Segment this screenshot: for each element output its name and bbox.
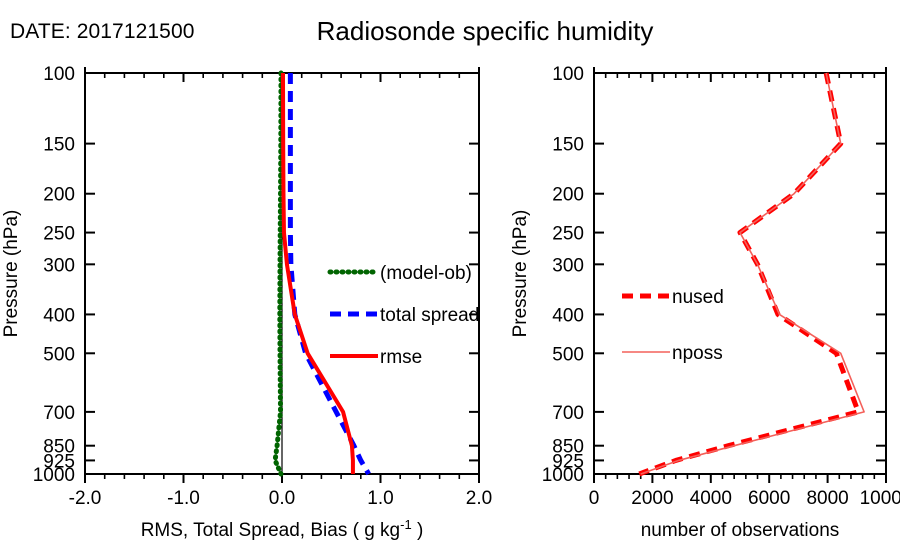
panel-right-panel: 0200040006000800010000100150200250300400… [510, 64, 900, 541]
x-axis-title-superscript: -1 [400, 517, 412, 532]
x-tick-label: 1.0 [367, 488, 393, 509]
x-tick-label: 0.0 [269, 488, 295, 509]
y-tick-label: 1000 [33, 465, 75, 486]
x-tick-label: 6000 [748, 488, 790, 509]
x-tick-label: 4000 [690, 488, 732, 509]
y-tick-label: 700 [552, 403, 584, 424]
y-tick-label: 250 [43, 224, 75, 245]
y-tick-label: 1000 [542, 465, 584, 486]
y-tick-label: 200 [43, 185, 75, 206]
y-tick-label: 500 [43, 344, 75, 365]
y-tick-label: 700 [43, 403, 75, 424]
y-tick-label: 150 [552, 135, 584, 156]
y-tick-label: 100 [43, 64, 75, 85]
y-axis-title: Pressure (hPa) [1, 210, 22, 338]
y-tick-label: 150 [43, 135, 75, 156]
y-tick-label: 250 [552, 224, 584, 245]
legend-label: (model-ob) [380, 263, 472, 284]
series-line-nused [639, 73, 858, 474]
legend-label: nused [672, 287, 724, 308]
panel-left-panel: -2.0-1.00.01.02.010015020025030040050070… [1, 64, 492, 541]
y-tick-label: 400 [552, 305, 584, 326]
y-tick-label: 500 [552, 344, 584, 365]
x-tick-label: 2000 [631, 488, 673, 509]
y-tick-label: 300 [43, 255, 75, 276]
x-tick-label: -1.0 [167, 488, 200, 509]
y-tick-label: 400 [43, 305, 75, 326]
chart-page: DATE: 2017121500 Radiosonde specific hum… [0, 0, 900, 560]
x-tick-label: 2.0 [466, 488, 492, 509]
x-axis-title: number of observations [641, 520, 840, 541]
y-tick-label: 300 [552, 255, 584, 276]
x-tick-label: -2.0 [69, 488, 102, 509]
y-tick-label: 200 [552, 185, 584, 206]
y-tick-label: 100 [552, 64, 584, 85]
plots-canvas: -2.0-1.00.01.02.010015020025030040050070… [0, 0, 900, 560]
x-axis-title-tail: ) [412, 520, 424, 541]
x-axis-title-main: RMS, Total Spread, Bias ( g kg [141, 520, 400, 541]
x-tick-label: 10000 [860, 488, 900, 509]
series-line-modelob [275, 73, 281, 474]
y-axis-title: Pressure (hPa) [510, 210, 531, 338]
x-tick-label: 8000 [806, 488, 848, 509]
legend-label: rmse [380, 347, 422, 368]
series-line-nposs [641, 73, 864, 474]
legend-label: total spread [380, 305, 479, 326]
x-tick-label: 0 [589, 488, 600, 509]
legend-label: nposs [672, 343, 723, 364]
x-axis-title: RMS, Total Spread, Bias ( g kg-1 ) [141, 517, 424, 541]
